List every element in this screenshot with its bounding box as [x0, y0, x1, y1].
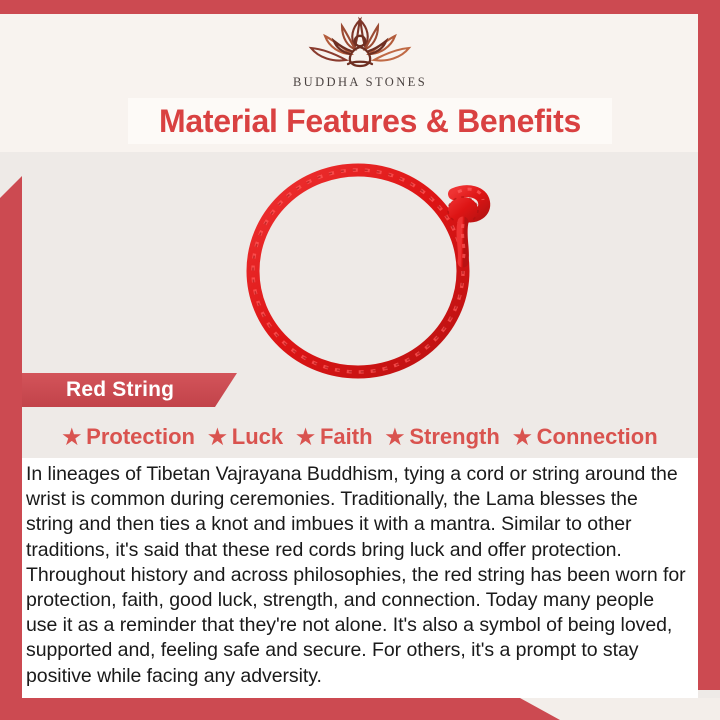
description-block: In lineages of Tibetan Vajrayana Buddhis…	[22, 458, 698, 698]
frame-right-bar	[698, 0, 720, 690]
brand-logo: BUDDHA STONES	[0, 16, 720, 90]
benefit-item: ★ Faith	[296, 424, 372, 450]
lotus-meditation-icon	[0, 16, 720, 72]
benefit-label: Faith	[320, 424, 373, 450]
benefit-label: Luck	[232, 424, 283, 450]
star-icon: ★	[296, 427, 315, 448]
product-label-text: Red String	[66, 378, 174, 402]
description-text: In lineages of Tibetan Vajrayana Buddhis…	[26, 462, 686, 689]
frame-top-bar	[0, 0, 720, 14]
benefit-item: ★ Luck	[208, 424, 283, 450]
benefit-label: Connection	[537, 424, 658, 450]
infographic-poster: BUDDHA STONES Material Features & Benefi…	[0, 0, 720, 720]
product-label-ribbon: Red String	[22, 373, 237, 407]
star-icon: ★	[513, 427, 532, 448]
frame-bottom-bar	[0, 698, 560, 720]
title-banner: Material Features & Benefits	[128, 98, 612, 144]
page-title: Material Features & Benefits	[159, 103, 581, 140]
star-icon: ★	[386, 427, 405, 448]
benefits-list: ★ Protection ★ Luck ★ Faith ★ Strength ★…	[22, 419, 698, 455]
benefit-item: ★ Strength	[386, 424, 500, 450]
benefit-label: Strength	[409, 424, 499, 450]
star-icon: ★	[208, 427, 227, 448]
product-image	[230, 158, 500, 380]
benefit-item: ★ Connection	[513, 424, 658, 450]
frame-left-bar	[0, 176, 22, 720]
benefit-label: Protection	[86, 424, 195, 450]
benefit-item: ★ Protection	[62, 424, 195, 450]
brand-name: BUDDHA STONES	[0, 75, 720, 90]
star-icon: ★	[62, 427, 81, 448]
